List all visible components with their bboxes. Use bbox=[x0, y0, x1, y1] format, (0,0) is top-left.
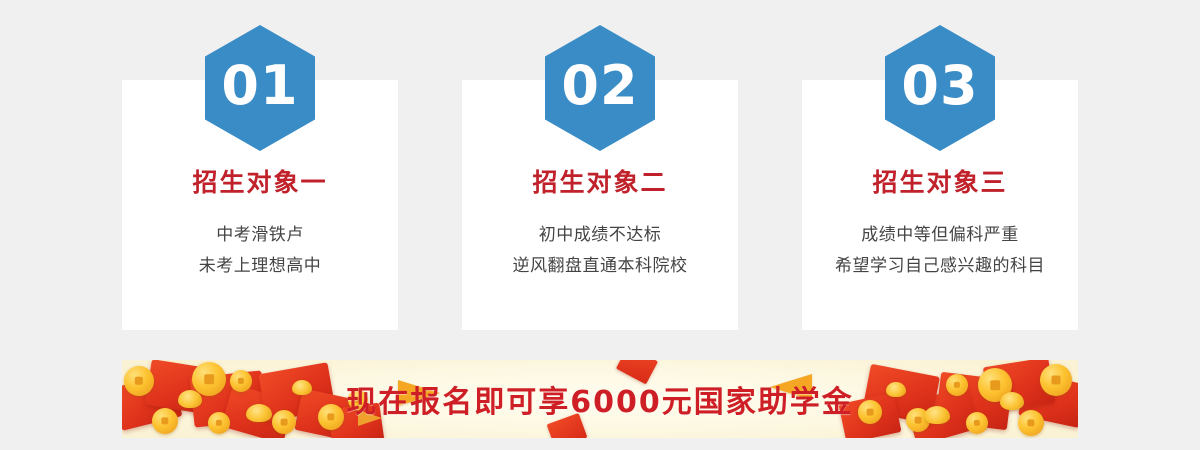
hexagon-badge-03: 03 bbox=[885, 25, 995, 151]
enrollment-card-2[interactable]: 02 招生对象二 初中成绩不达标 逆风翻盘直通本科院校 bbox=[462, 80, 738, 330]
enrollment-card-3[interactable]: 03 招生对象三 成绩中等但偏科严重 希望学习自己感兴趣的科目 bbox=[802, 80, 1078, 330]
hexagon-number: 03 bbox=[901, 59, 978, 113]
card-description: 中考滑铁卢 未考上理想高中 bbox=[122, 220, 398, 282]
card-title: 招生对象三 bbox=[802, 168, 1078, 198]
card-description-line: 成绩中等但偏科严重 bbox=[802, 220, 1078, 251]
card-body: 招生对象一 中考滑铁卢 未考上理想高中 bbox=[122, 168, 398, 282]
card-body: 招生对象三 成绩中等但偏科严重 希望学习自己感兴趣的科目 bbox=[802, 168, 1078, 282]
card-description: 成绩中等但偏科严重 希望学习自己感兴趣的科目 bbox=[802, 220, 1078, 282]
card-description-line: 中考滑铁卢 bbox=[122, 220, 398, 251]
hexagon-badge-01: 01 bbox=[205, 25, 315, 151]
card-description-line: 未考上理想高中 bbox=[122, 251, 398, 282]
card-description: 初中成绩不达标 逆风翻盘直通本科院校 bbox=[462, 220, 738, 282]
hexagon-badge-02: 02 bbox=[545, 25, 655, 151]
card-title: 招生对象二 bbox=[462, 168, 738, 198]
enrollment-card-1[interactable]: 01 招生对象一 中考滑铁卢 未考上理想高中 bbox=[122, 80, 398, 330]
scholarship-banner[interactable]: 现在报名即可享6000元国家助学金 bbox=[122, 360, 1078, 438]
hexagon-number: 01 bbox=[221, 59, 298, 113]
hexagon-number: 02 bbox=[561, 59, 638, 113]
card-description-line: 逆风翻盘直通本科院校 bbox=[462, 251, 738, 282]
card-body: 招生对象二 初中成绩不达标 逆风翻盘直通本科院校 bbox=[462, 168, 738, 282]
card-title: 招生对象一 bbox=[122, 168, 398, 198]
banner-headline: 现在报名即可享6000元国家助学金 bbox=[122, 377, 1078, 421]
card-description-line: 初中成绩不达标 bbox=[462, 220, 738, 251]
card-description-line: 希望学习自己感兴趣的科目 bbox=[802, 251, 1078, 282]
promo-banner-page: 01 招生对象一 中考滑铁卢 未考上理想高中 02 招生对象二 初中成绩不达标 … bbox=[0, 0, 1200, 450]
